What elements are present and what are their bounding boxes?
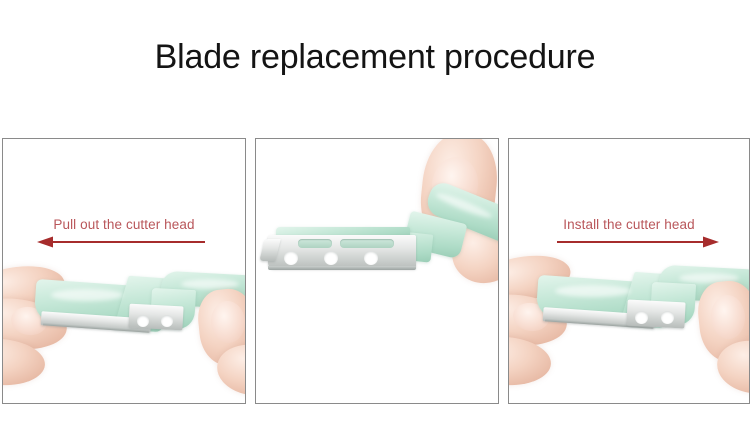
panel-3-caption: Install the cutter head — [509, 217, 749, 232]
blade-notch-2 — [324, 251, 338, 265]
panel-1-caption: Pull out the cutter head — [3, 217, 245, 232]
cutter-head-highlight — [555, 285, 631, 297]
illustration-cutter-head-detail — [256, 139, 498, 403]
handle-highlight — [181, 279, 239, 289]
blade-notch-3 — [364, 251, 378, 265]
blade-notch-1 — [284, 251, 298, 265]
illustration-install-cutter-head: Install the cutter head — [509, 139, 749, 403]
blade-holder-socket — [128, 304, 183, 331]
blade-holder-notch-right — [161, 315, 173, 327]
blade-cutting-edge — [268, 266, 416, 270]
panel-row: Pull out the cutter head — [2, 138, 748, 404]
blade-slot-left — [298, 239, 332, 248]
step-panel-2 — [255, 138, 499, 404]
illustration-pull-out-cutter-head: Pull out the cutter head — [3, 139, 245, 403]
blade-holder-notch-right — [661, 311, 674, 324]
blade-holder-notch-left — [137, 315, 149, 327]
arrow-right-icon — [557, 235, 719, 249]
step-panel-3: Install the cutter head — [508, 138, 750, 404]
blade-replacement-infographic: Blade replacement procedure Pull out the… — [0, 0, 750, 425]
blade-slot-right — [340, 239, 394, 248]
blade-holder-notch-left — [635, 311, 648, 324]
arrow-left-icon — [37, 235, 205, 249]
step-panel-1: Pull out the cutter head — [2, 138, 246, 404]
page-title: Blade replacement procedure — [0, 38, 750, 77]
cutter-head-highlight — [51, 289, 123, 301]
